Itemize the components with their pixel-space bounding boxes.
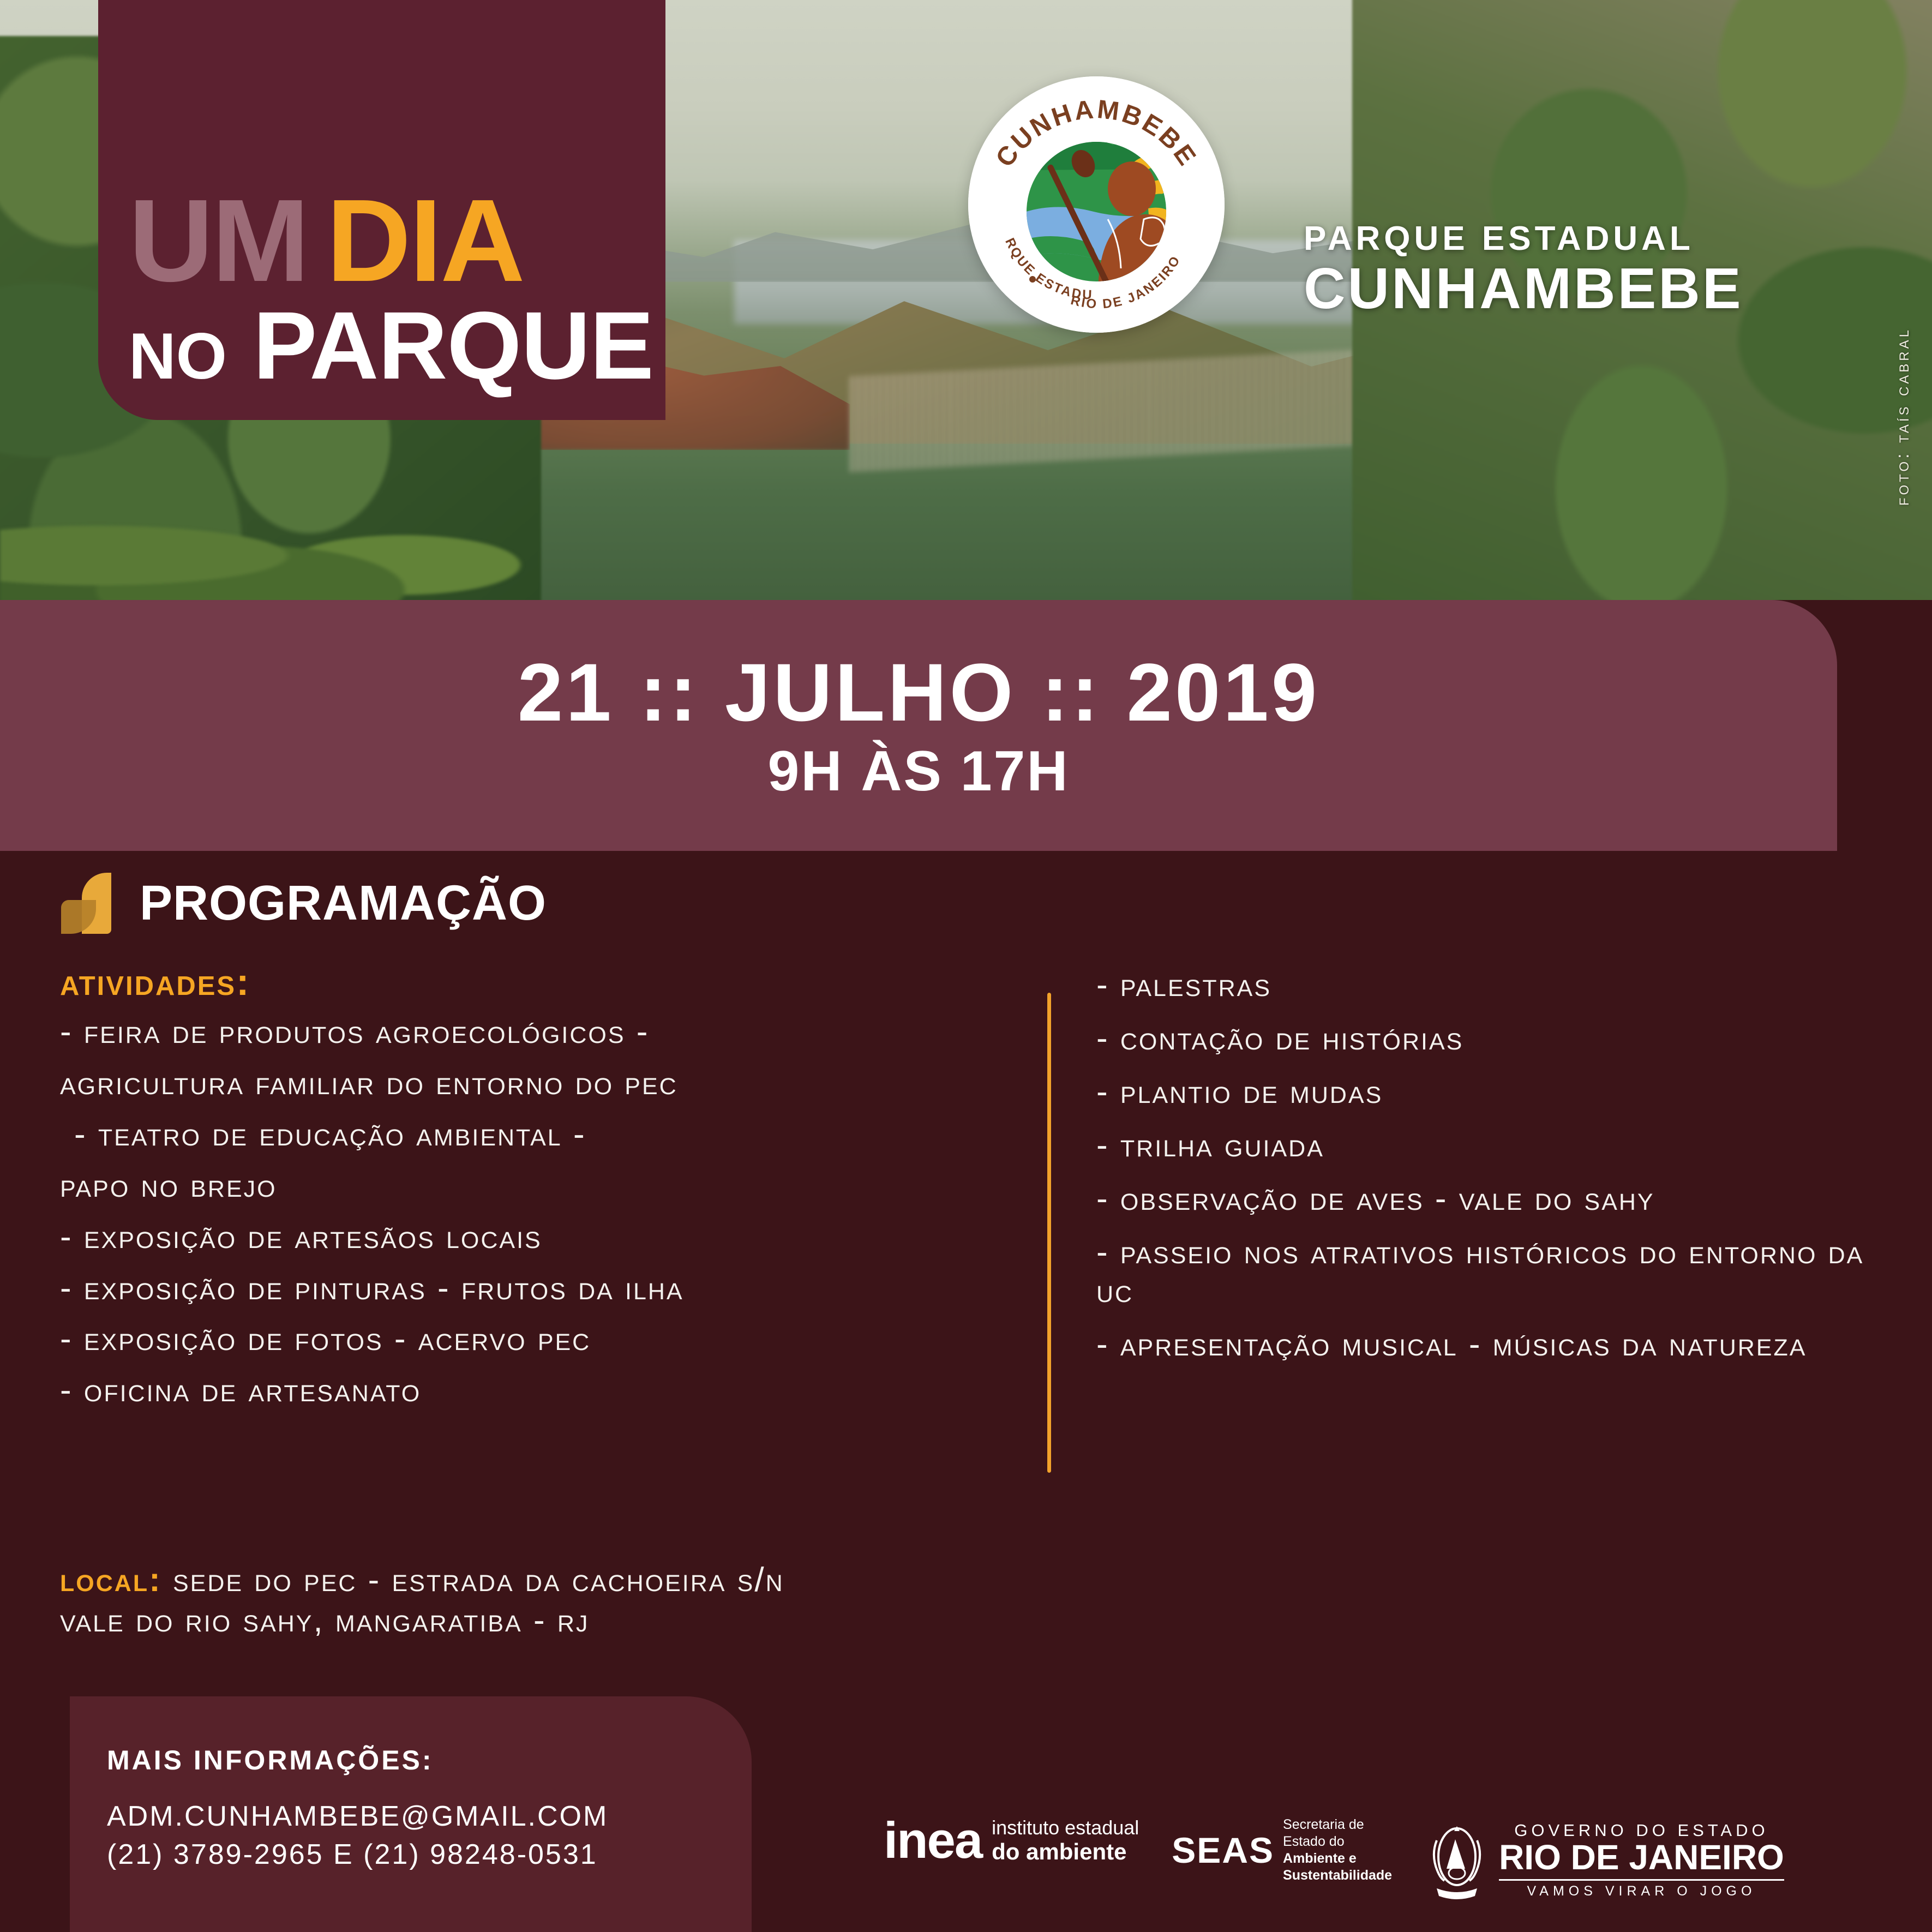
government-logo: GOVERNO DO ESTADO RIO DE JANEIRO VAMOS V… bbox=[1425, 1816, 1784, 1904]
list-item: Agricultura Familiar do entorno do PEC bbox=[60, 1064, 1020, 1103]
list-item: - Trilha Guiada bbox=[1096, 1126, 1876, 1165]
poster-root: Foto: Taís Cabral UMDIA NO PARQUE bbox=[0, 0, 1932, 1932]
government-line-three: VAMOS VIRAR O JOGO bbox=[1499, 1884, 1784, 1899]
contact-phones[interactable]: (21) 3789-2965 E (21) 98248-0531 bbox=[107, 1836, 752, 1874]
local-line-one: Sede do PEC - Estrada da Cachoeira S/N bbox=[173, 1561, 784, 1599]
park-name-small: PARQUE ESTADUAL bbox=[1304, 221, 1743, 256]
badge-separator-dot bbox=[1029, 276, 1036, 283]
photo-foreground-leaves-layer bbox=[0, 462, 695, 600]
title-block: UMDIA NO PARQUE bbox=[98, 0, 665, 420]
government-rule bbox=[1499, 1879, 1784, 1881]
event-date: 21 :: JULHO :: 2019 bbox=[518, 651, 1319, 733]
activities-label: Atividades: bbox=[60, 960, 1020, 1004]
local-line-two: Vale do Rio Sahy, Mangaratiba - RJ bbox=[60, 1601, 589, 1639]
badge-svg: CUNHAMBEBE PARQUE ESTADUAL RIO DE JANEIR… bbox=[968, 76, 1225, 333]
inea-tagline-line-one: instituto estadual bbox=[992, 1816, 1139, 1839]
seas-tagline-line-four: Sustentabilidade bbox=[1283, 1868, 1392, 1883]
rio-coat-of-arms-icon bbox=[1425, 1816, 1489, 1904]
title-line-two: NO PARQUE bbox=[129, 298, 665, 394]
list-item: - Teatro de Educação Ambiental - bbox=[60, 1115, 1020, 1154]
inea-tagline-line-two: do ambiente bbox=[992, 1839, 1139, 1865]
seas-tagline-line-three: Ambiente e bbox=[1283, 1851, 1357, 1866]
title-line-one: UMDIA bbox=[129, 185, 665, 296]
government-wordmark: GOVERNO DO ESTADO RIO DE JANEIRO VAMOS V… bbox=[1499, 1821, 1784, 1899]
seas-wordmark: SEAS bbox=[1172, 1832, 1274, 1868]
park-name-header: PARQUE ESTADUAL CUNHAMBEBE bbox=[1304, 221, 1743, 317]
inea-logo: inea instituto estadual do ambiente bbox=[884, 1816, 1139, 1865]
list-item: - Feira de Produtos Agroecológicos - bbox=[60, 1012, 1020, 1052]
inea-wordmark: inea bbox=[884, 1817, 982, 1864]
government-line-one: GOVERNO DO ESTADO bbox=[1499, 1821, 1784, 1840]
date-banner: 21 :: JULHO :: 2019 9H ÀS 17H bbox=[0, 600, 1837, 851]
programacao-title: PROGRAMAÇÃO bbox=[140, 879, 547, 928]
leaf-icon bbox=[61, 873, 111, 934]
list-item: - Plantio de Mudas bbox=[1096, 1072, 1876, 1112]
list-item: - Exposição de Artesãos Locais bbox=[60, 1217, 1020, 1257]
list-item: - Oficina de Artesanato bbox=[60, 1371, 1020, 1410]
title-word-dia: DIA bbox=[326, 175, 523, 306]
seas-logo: SEAS Secretaria de Estado do Ambiente e … bbox=[1172, 1816, 1392, 1884]
title-word-um: UM bbox=[129, 175, 308, 306]
activities-column-right: - Palestras - Contação de Histórias - Pl… bbox=[1096, 965, 1876, 1378]
list-item: - Palestras bbox=[1096, 965, 1876, 1005]
photo-credit: Foto: Taís Cabral bbox=[1892, 327, 1913, 506]
local-label: Local: bbox=[60, 1561, 162, 1599]
list-item: Papo no Brejo bbox=[60, 1166, 1020, 1205]
contact-box: MAIS INFORMAÇÕES: ADM.CUNHAMBEBE@GMAIL.C… bbox=[70, 1696, 752, 1932]
list-item: - Passeio nos Atrativos Históricos do en… bbox=[1096, 1233, 1876, 1311]
contact-email[interactable]: ADM.CUNHAMBEBE@GMAIL.COM bbox=[107, 1798, 752, 1836]
seas-tagline-line-one: Secretaria de bbox=[1283, 1816, 1392, 1833]
government-line-two: RIO DE JANEIRO bbox=[1499, 1840, 1784, 1875]
cunhambebe-badge-logo: CUNHAMBEBE PARQUE ESTADUAL RIO DE JANEIR… bbox=[968, 76, 1225, 333]
seas-tagline: Secretaria de Estado do Ambiente e Suste… bbox=[1283, 1816, 1392, 1884]
list-item: - Apresentação Musical - Músicas da Natu… bbox=[1096, 1325, 1876, 1364]
footer-logos: inea instituto estadual do ambiente SEAS… bbox=[884, 1816, 1887, 1915]
list-item: - Observação de Aves - Vale do Sahy bbox=[1096, 1179, 1876, 1219]
seas-tagline-line-two: Estado do bbox=[1283, 1833, 1392, 1850]
column-divider bbox=[1047, 993, 1051, 1473]
programacao-header: PROGRAMAÇÃO bbox=[61, 873, 547, 934]
list-item: - Contação de Histórias bbox=[1096, 1019, 1876, 1058]
activities-column-left: Atividades: - Feira de Produtos Agroecol… bbox=[60, 960, 1020, 1422]
event-time: 9H ÀS 17H bbox=[768, 743, 1070, 800]
title-word-parque: PARQUE bbox=[253, 292, 653, 399]
inea-tagline: instituto estadual do ambiente bbox=[992, 1816, 1139, 1865]
title-word-no: NO bbox=[129, 320, 227, 393]
list-item: - Exposição de Fotos - Acervo PEC bbox=[60, 1319, 1020, 1359]
list-item: - Exposição de Pinturas - Frutos da Ilha bbox=[60, 1269, 1020, 1308]
park-name-large: CUNHAMBEBE bbox=[1304, 260, 1743, 317]
contact-heading: MAIS INFORMAÇÕES: bbox=[107, 1747, 752, 1774]
local-section: Local: Sede do PEC - Estrada da Cachoeir… bbox=[60, 1560, 1369, 1641]
